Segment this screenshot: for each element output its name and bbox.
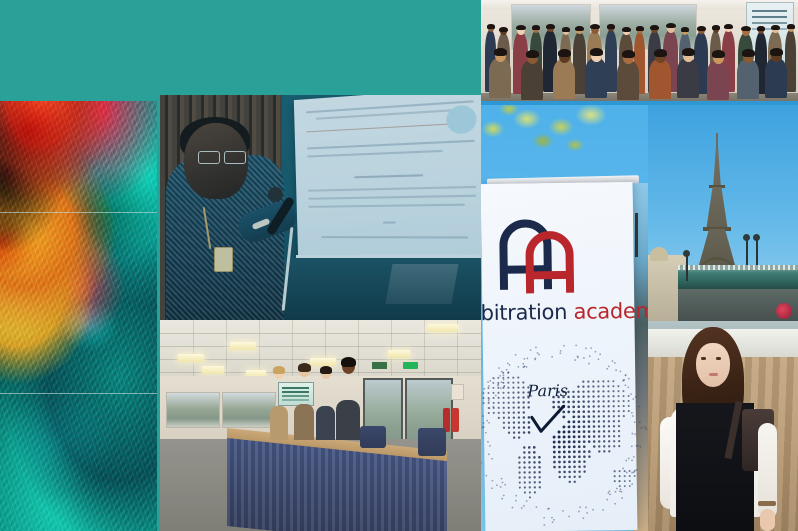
group-photo-person [707,60,729,100]
arbitration-academy-banner-photo: rbitration academy Paris [481,105,648,531]
exit-sign-near [403,362,418,369]
conference-panelist-hair [320,366,332,374]
group-photo-person [617,60,639,100]
speaker-name-badge [214,247,233,272]
speaker-eyeglasses [198,151,248,162]
abstract-texture-overlay [0,101,157,531]
banner-tree-foliage [481,105,625,177]
exit-sign-far [372,362,387,369]
group-photo-person-hair [712,25,720,29]
group-photo-person [489,58,511,98]
group-photo-person-hair [654,49,667,57]
speaker-laptop [385,264,458,304]
speaker-with-microphone-photo [160,95,481,320]
conference-panelist-hair [273,366,285,374]
group-photo-person-hair [650,25,659,30]
paris-dome [650,247,668,261]
banner-wordmark-academy: academy [573,298,648,323]
banner-street-pole [635,213,638,257]
woman-face [696,343,730,387]
group-photo-person [553,59,575,99]
group-photo-person-hair [622,50,635,58]
conference-panelist-hair [341,357,356,367]
ceiling-tile-line [226,320,227,382]
conference-panelist [294,404,314,440]
woman-bracelet [758,501,776,506]
group-photo-person-hair [697,26,706,31]
teal-color-block [0,0,481,101]
group-photo-person-hair [681,27,689,31]
group-photo-person-hair [741,26,751,32]
banner-wordmark-arbitration: rbitration [481,300,567,325]
group-photo-person-hair [590,48,603,56]
group-photo-person-hair [724,24,733,29]
group-photo-person-hair [532,25,540,29]
group-photo-person-hair [487,24,495,28]
group-photo-person-hair [712,50,725,58]
conference-window-left [166,392,220,428]
fire-extinguisher-right [452,408,459,432]
group-photo-person [521,60,543,100]
group-photo-person-hair [770,48,783,56]
conference-panelist [336,400,360,440]
group-photo-person-hair [516,25,526,31]
slide-logo-badge [446,104,477,134]
group-photo-person-hair [682,48,695,56]
group-photo-person-hair [546,24,555,29]
group-photo-person-hair [787,24,795,28]
eiffel-tower [695,133,739,278]
photo-collage: rbitration academy Paris [0,0,798,531]
check-mark-icon [530,405,566,435]
conference-panelist [316,406,335,440]
conference-projection-screen [278,382,314,406]
group-photo-person-hair [607,24,615,28]
ceiling-tile-line [160,346,481,347]
microphone-head [268,187,283,202]
group-photo-person-hair [742,49,755,57]
group-photo-person-hair [499,27,508,32]
group-photo-person-hair [590,24,600,30]
group-photo-person [649,59,671,99]
group-photo-person-hair [666,23,676,29]
group-photo-person-hair [622,27,631,32]
banner-paris-label: Paris [527,381,568,401]
abstract-seam-lower [0,393,157,394]
conference-panelist [270,406,288,440]
group-photo-person-hair [636,26,644,30]
ceiling-tile-line [160,333,481,334]
conference-chair-right [418,428,446,456]
group-photo-person [737,59,759,99]
group-photo-person-hair [757,26,765,30]
speaker-presentation-slide [294,95,481,263]
woman-lips [709,373,718,376]
group-photo-person-hair [771,25,780,30]
abstract-satellite-artwork [0,101,157,531]
conference-window-right [222,392,276,428]
group-photo-person [677,58,699,98]
paris-red-signal-light [776,303,792,319]
ceiling-tile-line [358,320,359,382]
group-photo-person [585,58,607,98]
ceiling-tile-line [424,320,425,382]
group-photo-person-hair [494,48,507,56]
paris-bridge-railing [678,265,798,270]
conference-chair-left [360,426,386,448]
arbitration-academy-double-a-logo [497,214,608,294]
group-photo-person-hair [558,49,571,57]
panel-session-room-photo [160,320,481,531]
group-photo-person-hair [575,26,584,31]
group-photo-person-hair [562,27,570,31]
group-photo-person-hair [526,50,539,58]
group-photo-person [765,58,787,98]
banner-dotted-world-map: Paris [481,338,648,530]
banner-wordmark: rbitration academy [481,299,648,325]
fire-alarm-box [451,384,464,400]
conference-group-photo [481,0,798,105]
woman-hand [760,509,775,531]
conference-panelist-hair [298,363,311,372]
eiffel-tower-portrait-photo [648,105,798,531]
banner-sheet: rbitration academy Paris [481,182,637,531]
ceiling-tile-line [193,320,194,382]
abstract-seam-upper [0,212,157,213]
ceiling-tile-line [292,320,293,382]
